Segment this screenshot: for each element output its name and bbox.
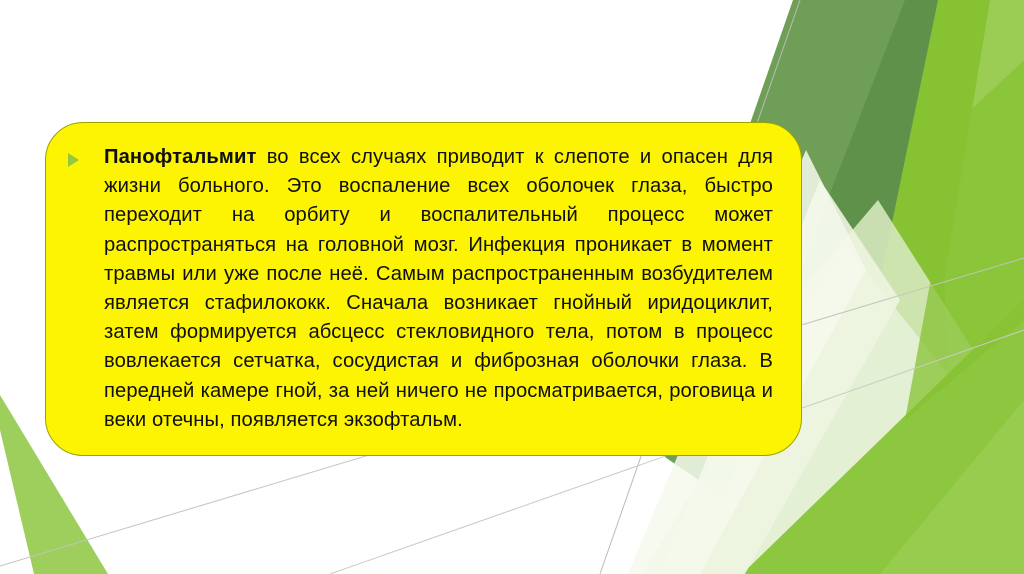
lead-term: Панофтальмит — [104, 146, 256, 168]
bullet-paragraph-row: Панофтальмит во всех случаях приводит к … — [58, 143, 783, 435]
bottom-lime-light-wedge — [880, 400, 1024, 574]
body-copy: во всех случаях приводит к слепоте и опа… — [104, 146, 773, 431]
triangle-bullet-icon — [68, 153, 79, 167]
right-lime-light-column — [944, 0, 1024, 574]
slide-canvas: Панофтальмит во всех случаях приводит к … — [0, 0, 1024, 574]
mid-lime-sliver — [905, 60, 1024, 420]
yellow-content-card: Панофтальмит во всех случаях приводит к … — [45, 122, 802, 456]
paragraph-text: Панофтальмит во всех случаях приводит к … — [58, 143, 783, 435]
right-lime-column — [876, 0, 1024, 574]
